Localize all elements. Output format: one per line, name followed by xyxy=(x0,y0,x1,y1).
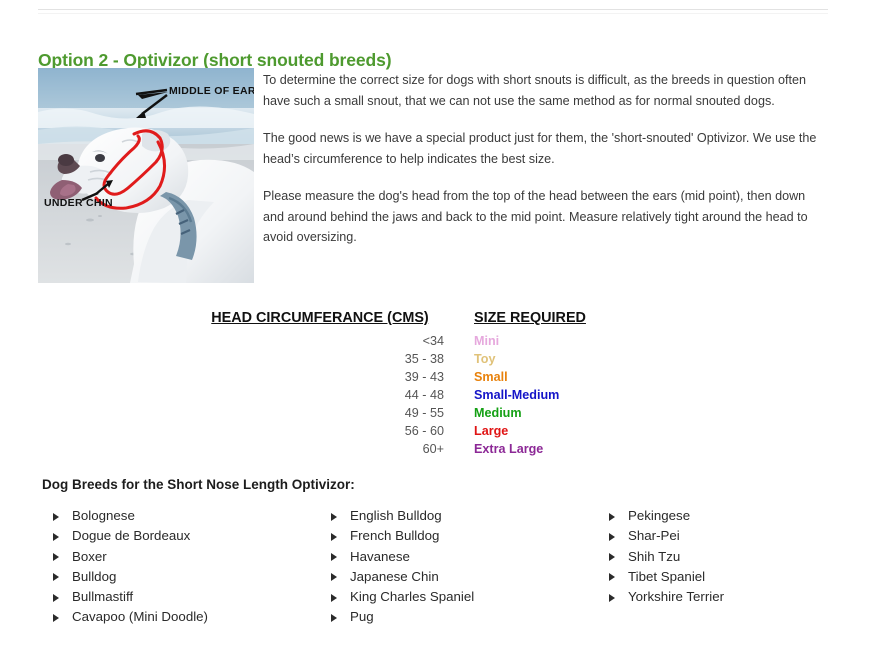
breed-list-item: Bulldog xyxy=(42,567,320,587)
breed-name: Yorkshire Terrier xyxy=(628,589,724,604)
intro-paragraph-2: The good news is we have a special produ… xyxy=(263,128,829,169)
breeds-column: PekingeseShar-PeiShih TzuTibet SpanielYo… xyxy=(598,506,724,628)
breed-list-item: Bolognese xyxy=(42,506,320,526)
size-chart-measurement: 49 - 55 xyxy=(196,404,444,422)
triangle-bullet-icon xyxy=(331,594,337,602)
breed-name: Bullmastiff xyxy=(72,589,133,604)
breed-list-item: Tibet Spaniel xyxy=(598,567,724,587)
bulldog-measurement-photo: MIDDLE OF EAR UNDER CHIN xyxy=(38,68,254,283)
breed-list-item: Yorkshire Terrier xyxy=(598,587,724,607)
breed-list-item: Dogue de Bordeaux xyxy=(42,526,320,546)
breed-list-item: Shar-Pei xyxy=(598,526,724,546)
size-chart-measurement: 44 - 48 xyxy=(196,386,444,404)
breed-list-item: King Charles Spaniel xyxy=(320,587,598,607)
breed-list-item: Cavapoo (Mini Doodle) xyxy=(42,607,320,627)
triangle-bullet-icon xyxy=(609,513,615,521)
size-chart-row: 60+Extra Large xyxy=(196,440,616,458)
size-chart-measurement: 60+ xyxy=(196,440,444,458)
triangle-bullet-icon xyxy=(609,573,615,581)
size-chart-header-row: HEAD CIRCUMFERANCE (CMS) SIZE REQUIRED xyxy=(196,310,616,332)
breed-name: Pekingese xyxy=(628,508,690,523)
breeds-column: BologneseDogue de BordeauxBoxerBulldogBu… xyxy=(42,506,320,628)
size-chart-row: 56 - 60Large xyxy=(196,422,616,440)
triangle-bullet-icon xyxy=(53,513,59,521)
breed-list-item: Boxer xyxy=(42,547,320,567)
breed-name: French Bulldog xyxy=(350,528,439,543)
breed-name: Bulldog xyxy=(72,569,116,584)
intro-text: To determine the correct size for dogs w… xyxy=(263,70,829,265)
triangle-bullet-icon xyxy=(609,553,615,561)
top-divider xyxy=(38,9,828,10)
triangle-bullet-icon xyxy=(53,614,59,622)
column-header-head-circumference: HEAD CIRCUMFERANCE (CMS) xyxy=(196,310,444,332)
breed-name: Dogue de Bordeaux xyxy=(72,528,190,543)
size-chart-size-label: Small xyxy=(444,368,616,386)
breed-list-item: Shih Tzu xyxy=(598,547,724,567)
size-chart: HEAD CIRCUMFERANCE (CMS) SIZE REQUIRED <… xyxy=(196,310,616,458)
size-chart-row: 44 - 48Small-Medium xyxy=(196,386,616,404)
svg-text:UNDER CHIN: UNDER CHIN xyxy=(44,197,113,209)
size-chart-row: 39 - 43Small xyxy=(196,368,616,386)
triangle-bullet-icon xyxy=(53,573,59,581)
intro-paragraph-1: To determine the correct size for dogs w… xyxy=(263,70,829,111)
size-chart-row: 49 - 55Medium xyxy=(196,404,616,422)
triangle-bullet-icon xyxy=(53,594,59,602)
size-chart-size-label: Small-Medium xyxy=(444,386,616,404)
intro-paragraph-3: Please measure the dog's head from the t… xyxy=(263,186,829,248)
bulldog-photo-illustration: MIDDLE OF EAR UNDER CHIN xyxy=(38,68,254,283)
breed-list-item: Bullmastiff xyxy=(42,587,320,607)
breed-name: Havanese xyxy=(350,549,410,564)
breed-name: Cavapoo (Mini Doodle) xyxy=(72,609,208,624)
triangle-bullet-icon xyxy=(331,553,337,561)
size-chart-row: <34Mini xyxy=(196,332,616,350)
triangle-bullet-icon xyxy=(609,594,615,602)
triangle-bullet-icon xyxy=(331,614,337,622)
size-chart-size-label: Extra Large xyxy=(444,440,616,458)
breed-name: Bolognese xyxy=(72,508,135,523)
breed-list-item: English Bulldog xyxy=(320,506,598,526)
size-chart-measurement: 56 - 60 xyxy=(196,422,444,440)
breed-name: English Bulldog xyxy=(350,508,442,523)
size-chart-size-label: Mini xyxy=(444,332,616,350)
breed-list-item: Havanese xyxy=(320,547,598,567)
triangle-bullet-icon xyxy=(331,513,337,521)
triangle-bullet-icon xyxy=(609,533,615,541)
size-chart-size-label: Large xyxy=(444,422,616,440)
breeds-list: BologneseDogue de BordeauxBoxerBulldogBu… xyxy=(42,506,842,628)
breed-list-item: Pug xyxy=(320,607,598,627)
svg-text:MIDDLE OF EAR: MIDDLE OF EAR xyxy=(169,85,254,97)
breed-name: Shih Tzu xyxy=(628,549,680,564)
breed-name: Boxer xyxy=(72,549,107,564)
column-header-size-required: SIZE REQUIRED xyxy=(444,310,616,332)
triangle-bullet-icon xyxy=(331,533,337,541)
breed-name: King Charles Spaniel xyxy=(350,589,474,604)
size-chart-row: 35 - 38Toy xyxy=(196,350,616,368)
breed-list-item: Pekingese xyxy=(598,506,724,526)
size-chart-size-label: Toy xyxy=(444,350,616,368)
size-chart-measurement: <34 xyxy=(196,332,444,350)
triangle-bullet-icon xyxy=(53,553,59,561)
breeds-section-title: Dog Breeds for the Short Nose Length Opt… xyxy=(42,477,355,492)
triangle-bullet-icon xyxy=(53,533,59,541)
breed-list-item: French Bulldog xyxy=(320,526,598,546)
top-divider-shadow xyxy=(38,13,828,14)
breed-name: Shar-Pei xyxy=(628,528,680,543)
size-chart-size-label: Medium xyxy=(444,404,616,422)
size-chart-measurement: 39 - 43 xyxy=(196,368,444,386)
breed-name: Tibet Spaniel xyxy=(628,569,705,584)
triangle-bullet-icon xyxy=(331,573,337,581)
breed-list-item: Japanese Chin xyxy=(320,567,598,587)
breed-name: Japanese Chin xyxy=(350,569,439,584)
breed-name: Pug xyxy=(350,609,374,624)
size-chart-measurement: 35 - 38 xyxy=(196,350,444,368)
breeds-column: English BulldogFrench BulldogHavaneseJap… xyxy=(320,506,598,628)
